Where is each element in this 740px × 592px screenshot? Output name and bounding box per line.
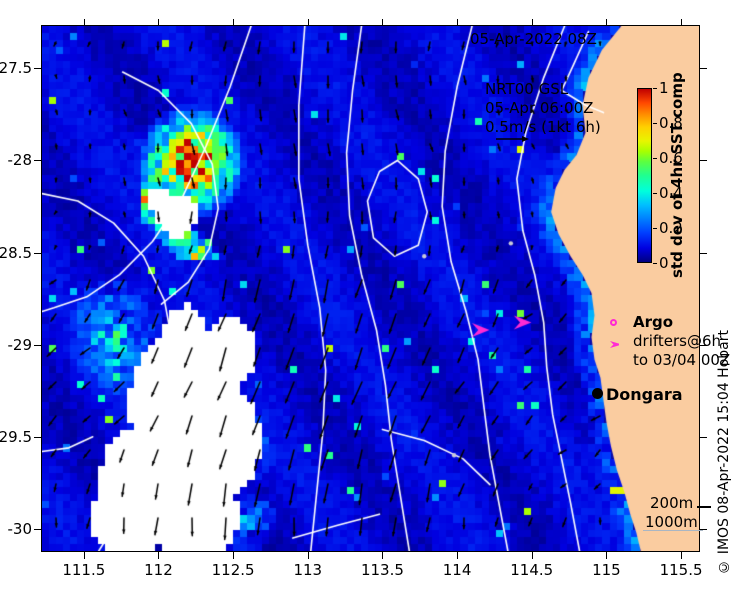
x-tick bbox=[233, 552, 234, 559]
x-tick-label: 115.5 bbox=[641, 561, 721, 579]
x-tick-label: 115 bbox=[566, 561, 646, 579]
x-tick bbox=[233, 19, 234, 25]
y-tick-label: -27.5 bbox=[0, 59, 32, 77]
colorbar: 00.20.40.60.81 bbox=[637, 88, 652, 263]
date-stamp: 05-Apr-2022 08Z bbox=[470, 30, 597, 48]
figure-root: 05-Apr-2022 08Z NRT00 GSL 05-Apr 06:00Z … bbox=[0, 0, 740, 592]
gsl-line-2: 05-Apr 06:00Z bbox=[485, 99, 601, 118]
x-tick bbox=[84, 19, 85, 25]
y-tick-label: -29.5 bbox=[0, 428, 32, 446]
x-tick-label: 113 bbox=[268, 561, 348, 579]
x-tick bbox=[606, 552, 607, 559]
map-plot-area[interactable] bbox=[41, 25, 700, 552]
y-tick bbox=[700, 68, 707, 69]
x-tick bbox=[308, 552, 309, 559]
y-tick bbox=[700, 160, 707, 161]
x-tick bbox=[158, 552, 159, 559]
y-tick bbox=[34, 68, 41, 69]
y-tick bbox=[700, 529, 707, 530]
colorbar-tick bbox=[653, 158, 657, 159]
city-label-dongara: Dongara bbox=[606, 385, 683, 404]
copyright-notice: © IMOS 08-Apr-2022 15:04 Hobart bbox=[716, 330, 732, 575]
gsl-line-1: NRT00 GSL bbox=[485, 80, 601, 99]
x-tick bbox=[532, 19, 533, 25]
x-tick-label: 113.5 bbox=[342, 561, 422, 579]
colorbar-tick bbox=[653, 193, 657, 194]
y-tick bbox=[700, 253, 707, 254]
x-tick bbox=[606, 19, 607, 25]
colorbar-tick bbox=[653, 263, 657, 264]
x-tick-label: 112.5 bbox=[193, 561, 273, 579]
x-tick bbox=[532, 552, 533, 559]
colorbar-gradient bbox=[637, 88, 652, 263]
y-tick bbox=[34, 253, 41, 254]
depth-rule-200m bbox=[697, 506, 711, 508]
x-tick bbox=[382, 19, 383, 25]
colorbar-tick bbox=[653, 228, 657, 229]
y-tick bbox=[700, 345, 707, 346]
y-tick bbox=[34, 529, 41, 530]
x-tick bbox=[457, 552, 458, 559]
colorbar-tick bbox=[653, 123, 657, 124]
x-tick-label: 111.5 bbox=[44, 561, 124, 579]
depth-label-1000m: 1000m bbox=[645, 513, 698, 531]
gsl-info-block: NRT00 GSL 05-Apr 06:00Z 0.5m/s (1kt 6h) bbox=[485, 80, 601, 137]
y-tick bbox=[34, 345, 41, 346]
y-tick bbox=[34, 437, 41, 438]
y-tick-label: -29 bbox=[0, 336, 32, 354]
colorbar-tick bbox=[653, 88, 657, 89]
y-tick-label: -28.5 bbox=[0, 244, 32, 262]
depth-rule-1000m bbox=[643, 530, 703, 531]
x-tick bbox=[158, 19, 159, 25]
city-marker-dongara bbox=[592, 388, 603, 399]
x-tick-label: 112 bbox=[118, 561, 198, 579]
x-tick-label: 114 bbox=[417, 561, 497, 579]
colorbar-title: std dev of 4hr SST comp bbox=[668, 88, 686, 263]
y-tick bbox=[34, 160, 41, 161]
x-tick bbox=[681, 19, 682, 25]
y-tick-label: -30 bbox=[0, 520, 32, 538]
x-tick-label: 114.5 bbox=[492, 561, 572, 579]
x-tick bbox=[382, 552, 383, 559]
x-tick bbox=[681, 552, 682, 559]
velocity-scale-arrow-icon bbox=[495, 133, 529, 145]
x-tick bbox=[84, 552, 85, 559]
x-tick bbox=[457, 19, 458, 25]
depth-label-200m: 200m bbox=[650, 494, 693, 512]
argo-marker-icon bbox=[610, 319, 617, 326]
y-tick-label: -28 bbox=[0, 151, 32, 169]
y-tick bbox=[700, 437, 707, 438]
x-tick bbox=[308, 19, 309, 25]
